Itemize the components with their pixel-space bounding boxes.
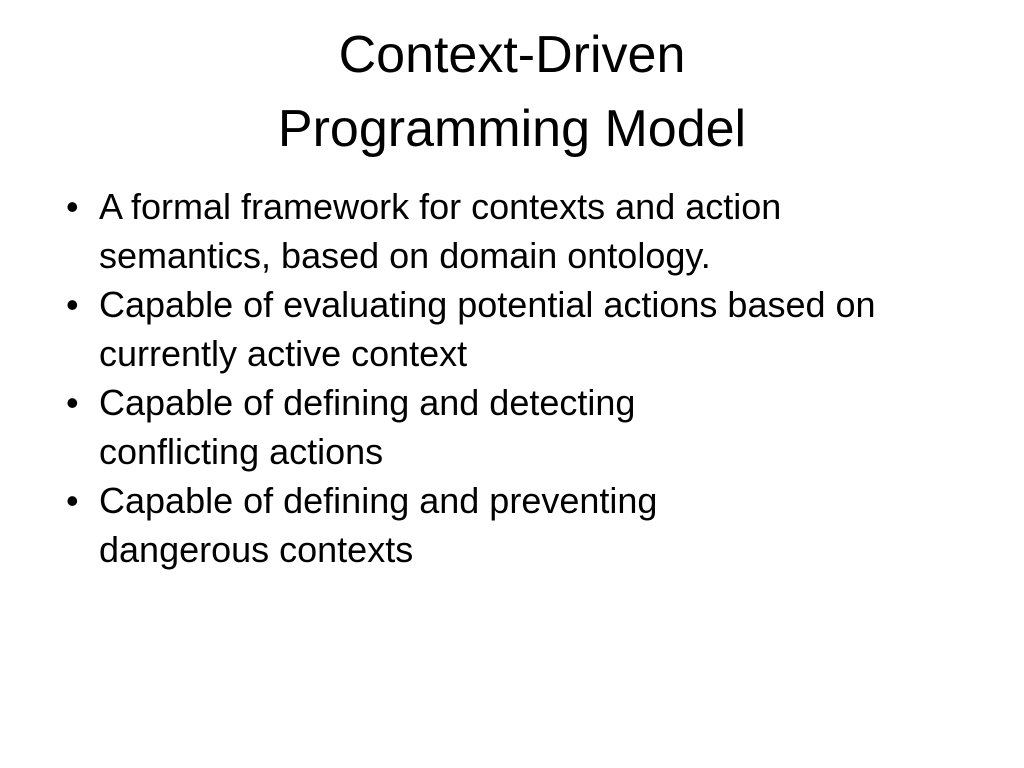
bullet-point-icon: • <box>66 378 88 427</box>
list-item-text: Capable of defining and preventing dange… <box>99 476 829 574</box>
bullet-point-icon: • <box>66 280 88 329</box>
bullet-point-icon: • <box>66 476 88 525</box>
list-item: • Capable of defining and preventing dan… <box>60 476 960 574</box>
presentation-slide: Context-Driven Programming Model • A for… <box>0 0 1024 768</box>
list-item: • A formal framework for contexts and ac… <box>60 182 960 280</box>
list-item: • Capable of defining and detecting conf… <box>60 378 960 476</box>
bullet-list: • A formal framework for contexts and ac… <box>60 182 960 574</box>
slide-title: Context-Driven Programming Model <box>0 18 1024 166</box>
slide-title-line-2: Programming Model <box>0 92 1024 166</box>
list-item-text: Capable of defining and detecting confli… <box>99 378 799 476</box>
list-item-text: A formal framework for contexts and acti… <box>99 182 844 280</box>
bullet-point-icon: • <box>66 182 88 231</box>
list-item: • Capable of evaluating potential action… <box>60 280 960 378</box>
list-item-text: Capable of evaluating potential actions … <box>99 280 899 378</box>
slide-title-line-1: Context-Driven <box>0 18 1024 92</box>
